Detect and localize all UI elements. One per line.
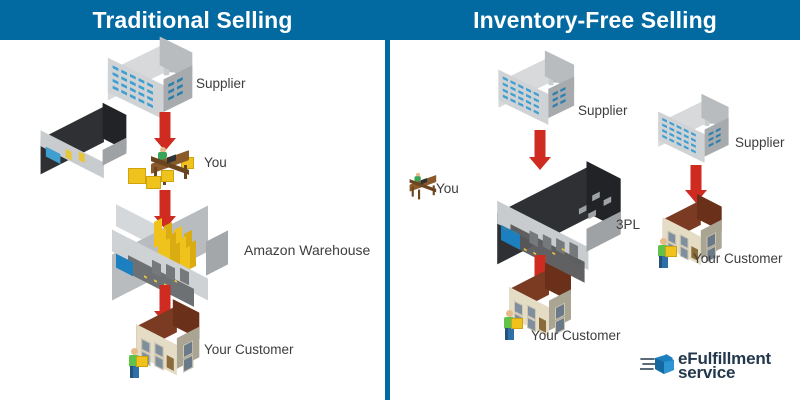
parcel-icon [128, 168, 146, 184]
parcel-icon [161, 170, 174, 182]
label-you-left: You [204, 156, 227, 171]
factory-icon [655, 110, 732, 161]
label-customer-right-1: Your Customer [531, 329, 621, 344]
label-amazon-warehouse: Amazon Warehouse [244, 243, 370, 258]
parcel-icon [146, 176, 161, 189]
diagram-canvas: Traditional Selling Inventory-Free Selli… [0, 0, 800, 400]
warehouse-icon [482, 186, 625, 268]
flow-arrow-right-1 [527, 130, 553, 172]
label-supplier-right-1: Supplier [578, 104, 628, 119]
label-supplier-left: Supplier [196, 77, 246, 92]
delivery-person-icon [126, 348, 146, 378]
efulfillment-service-logo[interactable]: eFulfillment service [640, 352, 676, 383]
shipping-box-icon [640, 352, 676, 378]
label-customer-right-2: Your Customer [693, 252, 783, 267]
header-title-inventory-free: Inventory-Free Selling [390, 0, 800, 40]
delivery-person-icon [501, 310, 521, 340]
label-you-right: You [436, 182, 459, 197]
label-customer-left: Your Customer [204, 343, 294, 358]
label-3pl: 3PL [616, 218, 640, 233]
delivery-person-icon [655, 238, 675, 268]
header-title-traditional: Traditional Selling [0, 0, 385, 40]
panel-divider [385, 40, 390, 400]
label-supplier-right-2: Supplier [735, 136, 785, 151]
factory-icon [495, 68, 578, 123]
factory-icon [104, 56, 196, 117]
